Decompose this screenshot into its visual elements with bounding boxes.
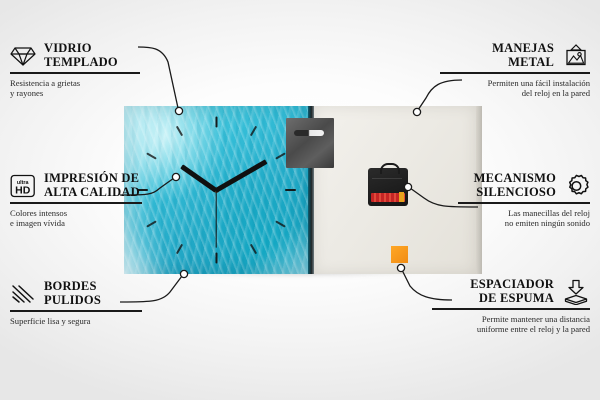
callout-title: BORDES PULIDOS: [44, 280, 101, 307]
callout-title-line2: DE ESPUMA: [470, 292, 554, 306]
connector-vidrio-templado: [138, 47, 178, 108]
callout-header: BORDES PULIDOS: [10, 280, 142, 307]
callout-title-line1: MECANISMO: [474, 171, 556, 185]
callout-title-line2: METAL: [492, 56, 554, 70]
clock-tick: [147, 152, 158, 159]
clock-tick: [275, 152, 286, 159]
callout-title: ESPACIADOR DE ESPUMA: [470, 278, 554, 305]
hanger-slot: [294, 130, 324, 136]
callout-title-line1: VIDRIO: [44, 41, 92, 55]
clock-tick: [249, 126, 256, 137]
clock-tick: [275, 220, 286, 227]
callout-header: VIDRIO TEMPLADO: [10, 42, 140, 69]
quartz-movement-box: [368, 168, 408, 206]
callout-rule: [458, 202, 590, 204]
callout-impresion-alta-calidad: ultra HD IMPRESIÓN DE ALTA CALIDAD Color…: [10, 172, 142, 228]
callout-title-line1: MANEJAS: [492, 41, 554, 55]
polished-edges-icon: [10, 283, 36, 305]
movement-hook: [380, 163, 400, 174]
infographic-canvas: VIDRIO TEMPLADO Resistencia a grietas y …: [0, 0, 600, 400]
clock-tick: [175, 126, 182, 137]
callout-header: ESPACIADOR DE ESPUMA: [432, 278, 590, 305]
callout-subtitle-line2: e imagen vívida: [10, 218, 65, 228]
callout-title-line2: TEMPLADO: [44, 56, 118, 70]
callout-title-line2: SILENCIOSO: [474, 186, 556, 200]
callout-subtitle-line1: Permite mantener una distancia: [482, 314, 590, 324]
clock-minute-hand: [215, 159, 268, 192]
callout-subtitle-line2: no emiten ningún sonido: [505, 218, 590, 228]
callout-mecanismo-silencioso: MECANISMO SILENCIOSO Las manecillas del …: [458, 172, 590, 228]
callout-vidrio-templado: VIDRIO TEMPLADO Resistencia a grietas y …: [10, 42, 140, 98]
metal-hanger-plate: [286, 118, 334, 168]
callout-manejas-metal: MANEJAS METAL Permiten una fácil instala…: [440, 42, 590, 98]
callout-subtitle: Resistencia a grietas y rayones: [10, 78, 140, 99]
picture-hanger-icon: [562, 44, 590, 68]
callout-header: ultra HD IMPRESIÓN DE ALTA CALIDAD: [10, 172, 142, 199]
foam-spacer: [391, 246, 408, 263]
clock-tick: [215, 253, 217, 264]
gear-icon: [564, 173, 590, 199]
battery: [371, 193, 405, 202]
ultra-hd-icon: ultra HD: [10, 174, 36, 198]
callout-subtitle-line1: Resistencia a grietas: [10, 78, 80, 88]
callout-title-line1: IMPRESIÓN DE: [44, 171, 139, 185]
callout-title-line1: ESPACIADOR: [470, 277, 554, 291]
callout-subtitle-line2: del reloj en la pared: [522, 88, 590, 98]
callout-rule: [10, 202, 142, 204]
callout-subtitle-line1: Colores intensos: [10, 208, 67, 218]
callout-subtitle: Permite mantener una distancia uniforme …: [432, 314, 590, 335]
callout-subtitle: Permiten una fácil instalación del reloj…: [440, 78, 590, 99]
clock-tick: [215, 117, 217, 128]
callout-title-line1: BORDES: [44, 279, 97, 293]
callout-subtitle-line1: Permiten una fácil instalación: [488, 78, 590, 88]
callout-title-line2: ALTA CALIDAD: [44, 186, 140, 200]
callout-subtitle: Superficie lisa y segura: [10, 316, 142, 326]
callout-subtitle-line1: Superficie lisa y segura: [10, 316, 90, 326]
callout-header: MANEJAS METAL: [440, 42, 590, 69]
clock-tick: [175, 244, 182, 255]
clock-tick: [147, 220, 158, 227]
callout-subtitle-line1: Las manecillas del reloj: [508, 208, 590, 218]
clock-tick: [285, 189, 296, 191]
callout-rule: [432, 308, 590, 310]
callout-subtitle-line2: uniforme entre el reloj y la pared: [477, 324, 590, 334]
callout-subtitle-line2: y rayones: [10, 88, 43, 98]
callout-title: MANEJAS METAL: [492, 42, 554, 69]
callout-title: IMPRESIÓN DE ALTA CALIDAD: [44, 172, 140, 199]
clock-face-panel: [124, 106, 308, 274]
callout-rule: [10, 72, 140, 74]
clock-dial: [124, 106, 308, 274]
callout-title-line2: PULIDOS: [44, 294, 101, 308]
callout-rule: [440, 72, 590, 74]
movement-seam: [372, 178, 402, 179]
callout-bordes-pulidos: BORDES PULIDOS Superficie lisa y segura: [10, 280, 142, 326]
callout-rule: [10, 310, 142, 312]
clock-hour-hand: [180, 164, 217, 192]
callout-espaciador-de-espuma: ESPACIADOR DE ESPUMA Permite mantener un…: [432, 278, 590, 334]
diamond-icon: [10, 45, 36, 67]
callout-title: MECANISMO SILENCIOSO: [474, 172, 556, 199]
callout-subtitle: Colores intensos e imagen vívida: [10, 208, 142, 229]
callout-header: MECANISMO SILENCIOSO: [458, 172, 590, 199]
svg-text:HD: HD: [15, 184, 31, 196]
clock-second-hand: [215, 190, 216, 248]
foam-spacer-icon: [562, 279, 590, 305]
callout-title: VIDRIO TEMPLADO: [44, 42, 118, 69]
clock-tick: [249, 244, 256, 255]
callout-subtitle: Las manecillas del reloj no emiten ningú…: [458, 208, 590, 229]
